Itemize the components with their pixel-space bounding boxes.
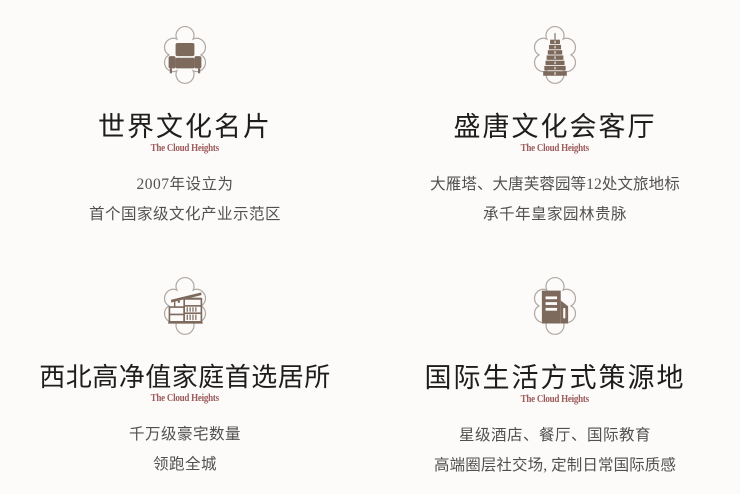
description-line: 承千年皇家园林贵脉 <box>430 200 680 230</box>
feature-description: 千万级豪宅数量 领跑全城 <box>129 420 241 480</box>
feature-description: 星级酒店、餐厅、国际教育 高端圈层社交场, 定制日常国际质感 <box>434 421 676 481</box>
feature-eyebrow: The Cloud Heights <box>521 143 589 154</box>
feature-eyebrow: The Cloud Heights <box>151 393 219 404</box>
feature-description: 2007年设立为 首个国家级文化产业示范区 <box>89 170 281 230</box>
feature-headline: 国际生活方式策源地 <box>425 363 686 393</box>
feature-cell-1: 世界文化名片 The Cloud Heights 2007年设立为 首个国家级文… <box>0 0 370 247</box>
feature-eyebrow: The Cloud Heights <box>151 143 219 154</box>
description-line: 领跑全城 <box>129 450 241 480</box>
feature-cell-3: 西北高净值家庭首选居所 The Cloud Heights 千万级豪宅数量 领跑… <box>0 247 370 494</box>
feature-cell-4: 国际生活方式策源地 The Cloud Heights 星级酒店、餐厅、国际教育… <box>370 247 740 494</box>
description-line: 首个国家级文化产业示范区 <box>89 200 281 230</box>
description-line: 2007年设立为 <box>89 170 281 200</box>
skyscraper-icon <box>514 271 596 353</box>
description-line: 千万级豪宅数量 <box>129 420 241 450</box>
armchair-icon <box>144 20 226 102</box>
description-line: 星级酒店、餐厅、国际教育 <box>434 421 676 451</box>
feature-grid: 世界文化名片 The Cloud Heights 2007年设立为 首个国家级文… <box>0 0 740 494</box>
feature-description: 大雁塔、大唐芙蓉园等12处文旅地标 承千年皇家园林贵脉 <box>430 170 680 230</box>
feature-headline: 世界文化名片 <box>98 112 272 142</box>
feature-eyebrow: The Cloud Heights <box>521 394 589 405</box>
description-line: 大雁塔、大唐芙蓉园等12处文旅地标 <box>430 170 680 200</box>
villa-icon <box>144 271 226 353</box>
pagoda-icon <box>514 20 596 102</box>
feature-headline: 西北高净值家庭首选居所 <box>39 363 331 392</box>
description-line: 高端圈层社交场, 定制日常国际质感 <box>434 451 676 481</box>
feature-headline: 盛唐文化会客厅 <box>454 112 657 142</box>
feature-cell-2: 盛唐文化会客厅 The Cloud Heights 大雁塔、大唐芙蓉园等12处文… <box>370 0 740 247</box>
